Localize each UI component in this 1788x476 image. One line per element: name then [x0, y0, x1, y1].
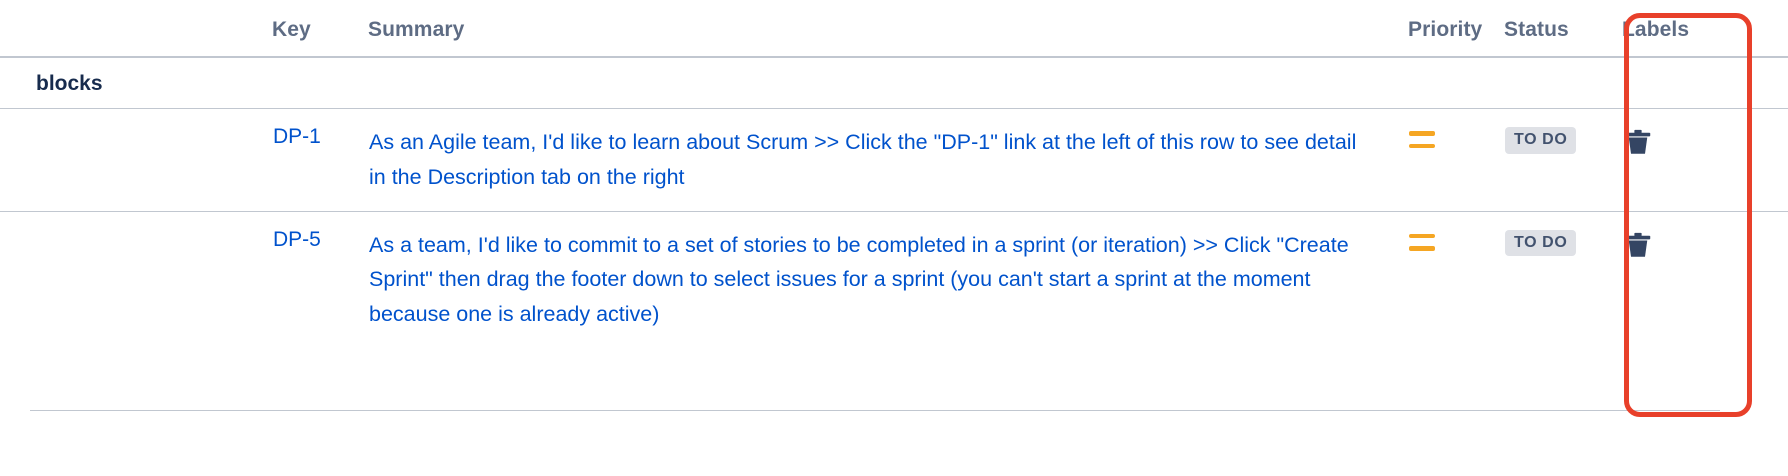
- table-row[interactable]: DP-5 As a team, I'd like to commit to a …: [0, 211, 1788, 348]
- table-body: blocks DP-1 As an Agile team, I'd like t…: [0, 57, 1788, 348]
- table-header-row: Key Summary Priority Status Labels: [0, 0, 1788, 57]
- header-spacer: [0, 0, 272, 57]
- issue-labels-cell: [1622, 109, 1788, 212]
- issue-summary-link[interactable]: As an Agile team, I'd like to learn abou…: [368, 109, 1408, 212]
- issue-key-link[interactable]: DP-1: [272, 109, 368, 212]
- column-header-key[interactable]: Key: [272, 0, 368, 57]
- column-header-labels[interactable]: Labels: [1622, 0, 1788, 57]
- issue-priority-cell: [1408, 109, 1504, 212]
- issue-priority-cell: [1408, 211, 1504, 348]
- priority-medium-icon[interactable]: [1409, 131, 1435, 148]
- table-header: Key Summary Priority Status Labels: [0, 0, 1788, 57]
- link-group-header-blocks: blocks: [0, 57, 1788, 109]
- row-spacer: [0, 109, 272, 212]
- table-row[interactable]: DP-1 As an Agile team, I'd like to learn…: [0, 109, 1788, 212]
- column-header-summary[interactable]: Summary: [368, 0, 1408, 57]
- priority-medium-icon[interactable]: [1409, 234, 1435, 251]
- link-group-label: blocks: [0, 57, 1788, 109]
- status-badge[interactable]: TO DO: [1505, 230, 1576, 257]
- row-spacer: [0, 211, 272, 348]
- issue-labels-cell: [1622, 211, 1788, 348]
- column-header-priority[interactable]: Priority: [1408, 0, 1504, 57]
- issue-status-cell: TO DO: [1504, 109, 1622, 212]
- table-bottom-divider: [30, 410, 1720, 411]
- issue-summary-link[interactable]: As a team, I'd like to commit to a set o…: [368, 211, 1408, 348]
- issue-key-link[interactable]: DP-5: [272, 211, 368, 348]
- column-header-status[interactable]: Status: [1504, 0, 1622, 57]
- status-badge[interactable]: TO DO: [1505, 127, 1576, 154]
- issue-status-cell: TO DO: [1504, 211, 1622, 348]
- trash-icon[interactable]: [1623, 126, 1653, 158]
- linked-issues-table: Key Summary Priority Status Labels block…: [0, 0, 1788, 348]
- trash-icon[interactable]: [1623, 229, 1653, 261]
